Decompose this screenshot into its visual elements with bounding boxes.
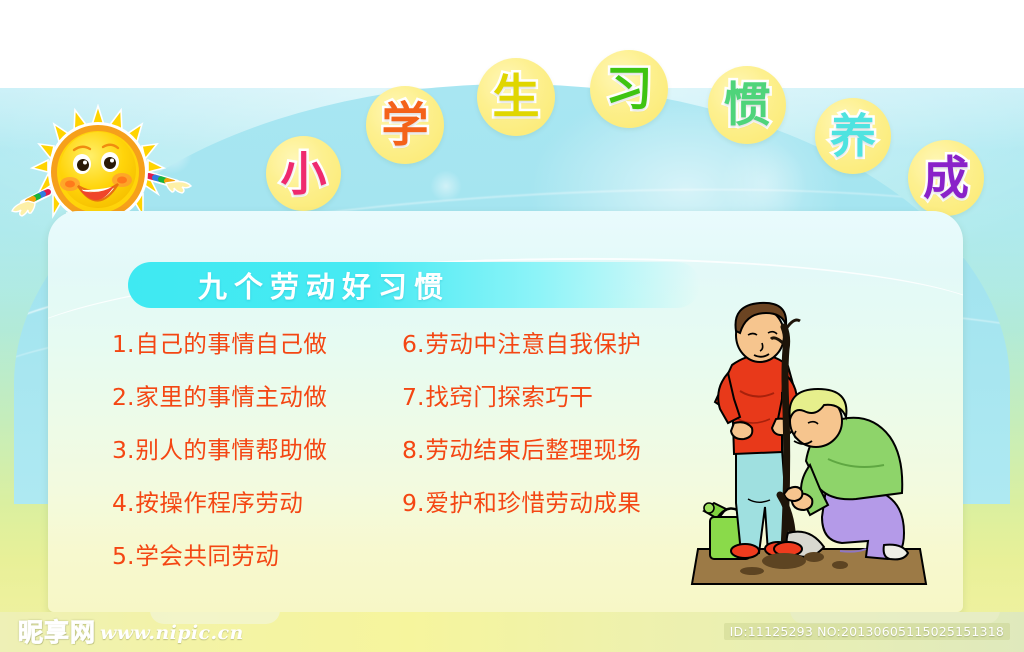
habit-number: 5.: [112, 545, 134, 569]
habit-item-9: 9. 爱护和珍惜劳动成果: [402, 490, 712, 518]
habit-text: 劳动结束后整理现场: [425, 439, 641, 463]
heading-bubble-3: 生: [477, 58, 555, 136]
heading-char-7: 成: [923, 155, 969, 201]
habit-item-5: 5. 学会共同劳动: [112, 543, 412, 571]
heading-char-1: 小: [281, 151, 327, 197]
section-banner: 九个劳动好习惯: [128, 262, 700, 308]
habit-text: 找窍门探索巧干: [425, 386, 593, 410]
heading-char-2: 学: [382, 102, 429, 149]
habit-text: 学会共同劳动: [135, 545, 279, 569]
planting-tree-illustration: [688, 299, 933, 589]
heading-char-3: 生: [493, 74, 540, 121]
image-id-text: ID:11125293 NO:20130605115025151318: [724, 623, 1010, 640]
habit-item-4: 4. 按操作程序劳动: [112, 490, 412, 518]
habit-number: 2.: [112, 386, 134, 410]
heading-bubble-1: 小: [266, 136, 341, 211]
habit-number: 1.: [112, 333, 134, 357]
heading-bubble-2: 学: [366, 86, 444, 164]
habit-number: 3.: [112, 439, 134, 463]
site-logo: 昵享网: [18, 616, 96, 646]
heading-bubble-4: 习: [590, 50, 668, 128]
poster-canvas: 小 学 生 习 惯 养 成 九个劳动好习惯 1.: [0, 0, 1024, 652]
habit-text: 别人的事情帮助做: [135, 439, 327, 463]
habit-item-2: 2. 家里的事情主动做: [112, 384, 412, 412]
habit-number: 7.: [402, 386, 424, 410]
habit-number: 6.: [402, 333, 424, 357]
habit-text: 家里的事情主动做: [135, 386, 327, 410]
habit-text: 爱护和珍惜劳动成果: [425, 492, 641, 516]
habit-item-6: 6. 劳动中注意自我保护: [402, 331, 712, 359]
section-title: 九个劳动好习惯: [198, 264, 450, 306]
footer-watermark-bar: 昵享网 www.nipic.cn ID:11125293 NO:20130605…: [0, 612, 1024, 652]
habit-item-7: 7. 找窍门探索巧干: [402, 384, 712, 412]
heading-bubble-6: 养: [815, 98, 891, 174]
habit-item-8: 8. 劳动结束后整理现场: [402, 437, 712, 465]
heading-bubble-5: 惯: [708, 66, 786, 144]
habit-number: 9.: [402, 492, 424, 516]
heading-char-4: 习: [606, 66, 653, 113]
habit-number: 8.: [402, 439, 424, 463]
heading-bubble-7: 成: [908, 140, 984, 216]
habit-text: 自己的事情自己做: [135, 333, 327, 357]
habits-column-left: 1. 自己的事情自己做 2. 家里的事情主动做 3. 别人的事情帮助做 4. 按…: [112, 331, 412, 596]
habit-number: 4.: [112, 492, 134, 516]
hand: [731, 422, 752, 439]
habit-item-1: 1. 自己的事情自己做: [112, 331, 412, 359]
habit-item-3: 3. 别人的事情帮助做: [112, 437, 412, 465]
content-card: 九个劳动好习惯 1. 自己的事情自己做 2. 家里的事情主动做 3. 别人的事情…: [48, 211, 963, 612]
heading-char-5: 惯: [724, 82, 771, 129]
habit-text: 按操作程序劳动: [135, 492, 303, 516]
site-url: www.nipic.cn: [100, 622, 244, 644]
hand: [784, 487, 802, 501]
habits-column-right: 6. 劳动中注意自我保护 7. 找窍门探索巧干 8. 劳动结束后整理现场 9. …: [402, 331, 712, 543]
heading-char-6: 养: [830, 113, 876, 159]
habit-text: 劳动中注意自我保护: [425, 333, 641, 357]
